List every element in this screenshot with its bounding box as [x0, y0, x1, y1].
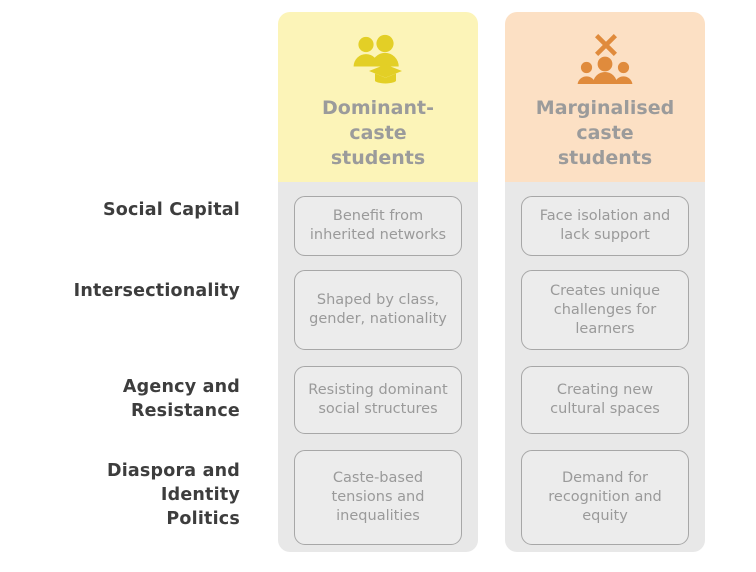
cell-text-line: Creates unique [550, 282, 660, 301]
column-title-line: Marginalised [515, 96, 695, 121]
column-title-line: caste [288, 121, 468, 146]
row-label-line: Resistance [0, 399, 240, 423]
cell-agency-and-resistance-marginalised[interactable]: Creating new cultural spaces [521, 366, 689, 434]
row-label-social-capital: Social Capital [0, 198, 240, 222]
cell-text-line: social structures [308, 400, 447, 419]
cell-text-line: gender, nationality [309, 310, 447, 329]
column-title-line: caste [515, 121, 695, 146]
column-header: Marginalised caste students [505, 12, 705, 182]
column-title-line: students [288, 146, 468, 171]
cell-text: Benefit from inherited networks [310, 207, 446, 245]
column-title-line: Dominant- [288, 96, 468, 121]
comparison-matrix: Social Capital Intersectionality Agency … [0, 0, 756, 572]
column-title: Marginalised caste students [515, 96, 695, 171]
cell-text: Face isolation and lack support [540, 207, 670, 245]
cell-text-line: tensions and [332, 488, 425, 507]
row-label-diaspora-and-identity-politics: Diaspora and Identity Politics [0, 459, 240, 531]
cell-text-line: Face isolation and [540, 207, 670, 226]
cell-intersectionality-dominant[interactable]: Shaped by class, gender, nationality [294, 270, 462, 350]
column-marginalised-caste-students[interactable]: Marginalised caste students Face isolati… [505, 12, 705, 552]
column-title-line: students [515, 146, 695, 171]
cell-text: Resisting dominant social structures [308, 381, 447, 419]
row-label-line: Politics [0, 507, 240, 531]
row-label-agency-and-resistance: Agency and Resistance [0, 375, 240, 423]
row-label-intersectionality: Intersectionality [0, 279, 240, 303]
cell-text: Demand for recognition and equity [548, 469, 662, 526]
row-label-line: Intersectionality [0, 279, 240, 303]
cell-text: Shaped by class, gender, nationality [309, 291, 447, 329]
cell-social-capital-marginalised[interactable]: Face isolation and lack support [521, 196, 689, 256]
cell-text: Caste-based tensions and inequalities [332, 469, 425, 526]
cell-diaspora-and-identity-politics-dominant[interactable]: Caste-based tensions and inequalities [294, 450, 462, 545]
cell-text-line: Caste-based [332, 469, 425, 488]
cell-diaspora-and-identity-politics-marginalised[interactable]: Demand for recognition and equity [521, 450, 689, 545]
row-label-column: Social Capital Intersectionality Agency … [0, 182, 240, 552]
row-label-line: Identity [0, 483, 240, 507]
row-label-line: Agency and [0, 375, 240, 399]
people-graduate-icon [350, 34, 406, 84]
cell-text-line: Creating new [550, 381, 660, 400]
cell-text-line: inherited networks [310, 226, 446, 245]
cell-text-line: recognition and [548, 488, 662, 507]
cell-agency-and-resistance-dominant[interactable]: Resisting dominant social structures [294, 366, 462, 434]
row-label-line: Social Capital [0, 198, 240, 222]
cell-text-line: learners [550, 320, 660, 339]
cell-text-line: Resisting dominant [308, 381, 447, 400]
column-title: Dominant- caste students [288, 96, 468, 171]
cell-text-line: challenges for [550, 301, 660, 320]
column-header: Dominant- caste students [278, 12, 478, 182]
people-excluded-icon [577, 34, 633, 84]
row-label-line: Diaspora and [0, 459, 240, 483]
cell-social-capital-dominant[interactable]: Benefit from inherited networks [294, 196, 462, 256]
column-dominant-caste-students[interactable]: Dominant- caste students Benefit from in… [278, 12, 478, 552]
cell-text: Creating new cultural spaces [550, 381, 660, 419]
cell-text-line: Shaped by class, [309, 291, 447, 310]
cell-text-line: Demand for [548, 469, 662, 488]
cell-text-line: Benefit from [310, 207, 446, 226]
cell-text-line: cultural spaces [550, 400, 660, 419]
cell-text: Creates unique challenges for learners [550, 282, 660, 339]
cell-text-line: equity [548, 507, 662, 526]
cell-intersectionality-marginalised[interactable]: Creates unique challenges for learners [521, 270, 689, 350]
cell-text-line: inequalities [332, 507, 425, 526]
cell-text-line: lack support [540, 226, 670, 245]
